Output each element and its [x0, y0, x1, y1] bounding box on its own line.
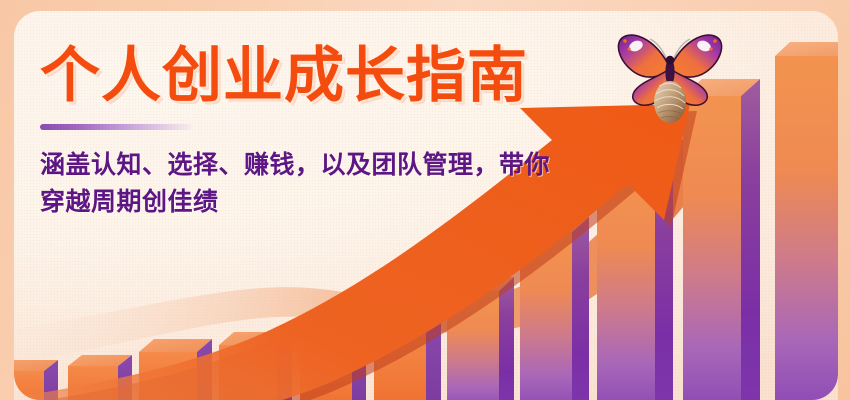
butterfly-graphic — [612, 18, 728, 134]
promo-banner: 个人创业成长指南 涵盖认知、选择、赚钱，以及团队管理，带你穿越周期创佳绩 — [0, 0, 850, 400]
cocoon-icon — [654, 81, 686, 123]
title-divider — [40, 124, 192, 130]
butterfly-head-icon — [666, 56, 674, 64]
page-subtitle: 涵盖认知、选择、赚钱，以及团队管理，带你穿越周期创佳绩 — [40, 147, 560, 221]
text-block: 个人创业成长指南 涵盖认知、选择、赚钱，以及团队管理，带你穿越周期创佳绩 — [40, 46, 640, 221]
page-title: 个人创业成长指南 — [40, 46, 640, 106]
